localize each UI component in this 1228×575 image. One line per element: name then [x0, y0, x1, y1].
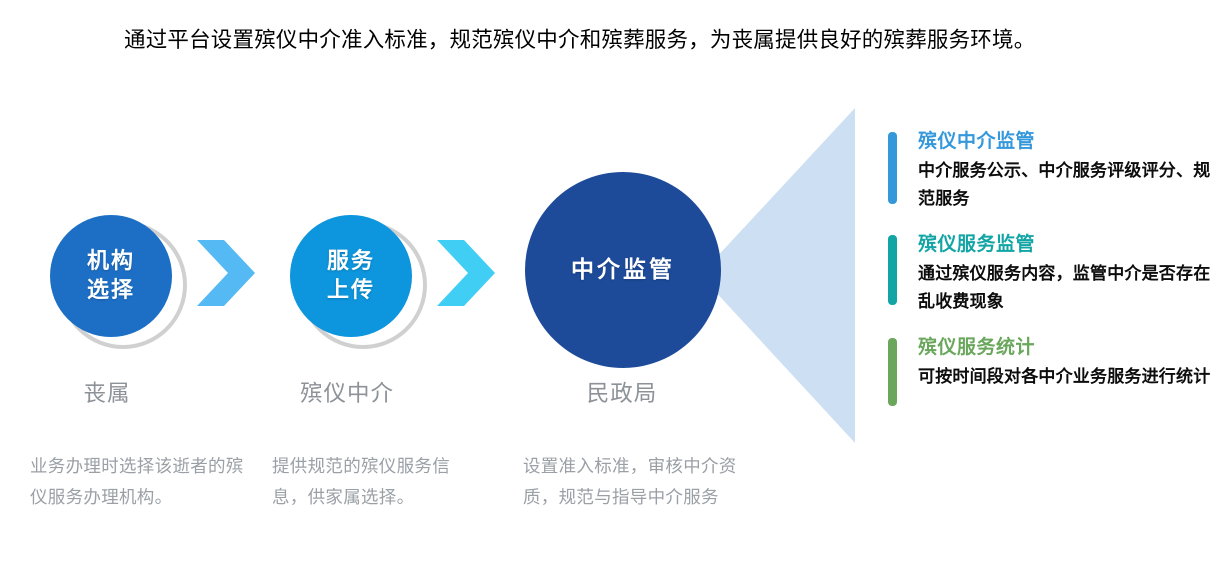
- node-description-2: 提供规范的殡仪服务信息，供家属选择。: [272, 452, 477, 514]
- node-circle-2[interactable]: 服务 上传: [290, 215, 412, 337]
- feature-body-2: 殡仪服务监管 通过殡仪服务内容，监管中介是否存在乱收费现象: [918, 231, 1218, 316]
- feature-title-2: 殡仪服务监管: [918, 231, 1218, 258]
- feature-item-2[interactable]: 殡仪服务监管 通过殡仪服务内容，监管中介是否存在乱收费现象: [888, 231, 1218, 316]
- chevron-right-icon-2: [434, 238, 500, 308]
- feature-list: 殡仪中介监管 中介服务公示、中介服务评级评分、规范服务 殡仪服务监管 通过殡仪服…: [888, 128, 1218, 424]
- node-description-1: 业务办理时选择该逝者的殡仪服务办理机构。: [30, 452, 245, 514]
- node-circle-2-label: 服务 上传: [327, 247, 375, 305]
- node-circle-1-label: 机构 选择: [87, 247, 135, 305]
- feature-accent-bar-2: [888, 235, 897, 305]
- role-label-1: 丧属: [22, 376, 192, 408]
- feature-body-3: 殡仪服务统计 可按时间段对各中介业务服务进行统计: [918, 334, 1218, 391]
- node-description-3: 设置准入标准，审核中介资质，规范与指导中介服务: [523, 452, 738, 514]
- diagram-canvas: 通过平台设置殡仪中介准入标准，规范殡仪中介和殡葬服务，为丧属提供良好的殡葬服务环…: [0, 0, 1228, 575]
- node-circle-3[interactable]: 中介监管: [525, 172, 721, 368]
- feature-body-1: 殡仪中介监管 中介服务公示、中介服务评级评分、规范服务: [918, 128, 1218, 213]
- feature-title-3: 殡仪服务统计: [918, 334, 1218, 361]
- page-title: 通过平台设置殡仪中介准入标准，规范殡仪中介和殡葬服务，为丧属提供良好的殡葬服务环…: [62, 24, 1192, 58]
- feature-description-3: 可按时间段对各中介业务服务进行统计: [918, 363, 1218, 391]
- feature-accent-bar-1: [888, 132, 897, 204]
- feature-item-1[interactable]: 殡仪中介监管 中介服务公示、中介服务评级评分、规范服务: [888, 128, 1218, 213]
- feature-description-1: 中介服务公示、中介服务评级评分、规范服务: [918, 157, 1218, 213]
- chevron-right-icon-1: [194, 238, 260, 308]
- node-circle-1[interactable]: 机构 选择: [50, 215, 172, 337]
- feature-item-3[interactable]: 殡仪服务统计 可按时间段对各中介业务服务进行统计: [888, 334, 1218, 406]
- node-circle-3-label: 中介监管: [571, 255, 675, 285]
- feature-accent-bar-3: [888, 338, 897, 406]
- role-label-2: 殡仪中介: [262, 376, 432, 408]
- role-label-3: 民政局: [537, 376, 707, 408]
- feature-title-1: 殡仪中介监管: [918, 128, 1218, 155]
- feature-description-2: 通过殡仪服务内容，监管中介是否存在乱收费现象: [918, 260, 1218, 316]
